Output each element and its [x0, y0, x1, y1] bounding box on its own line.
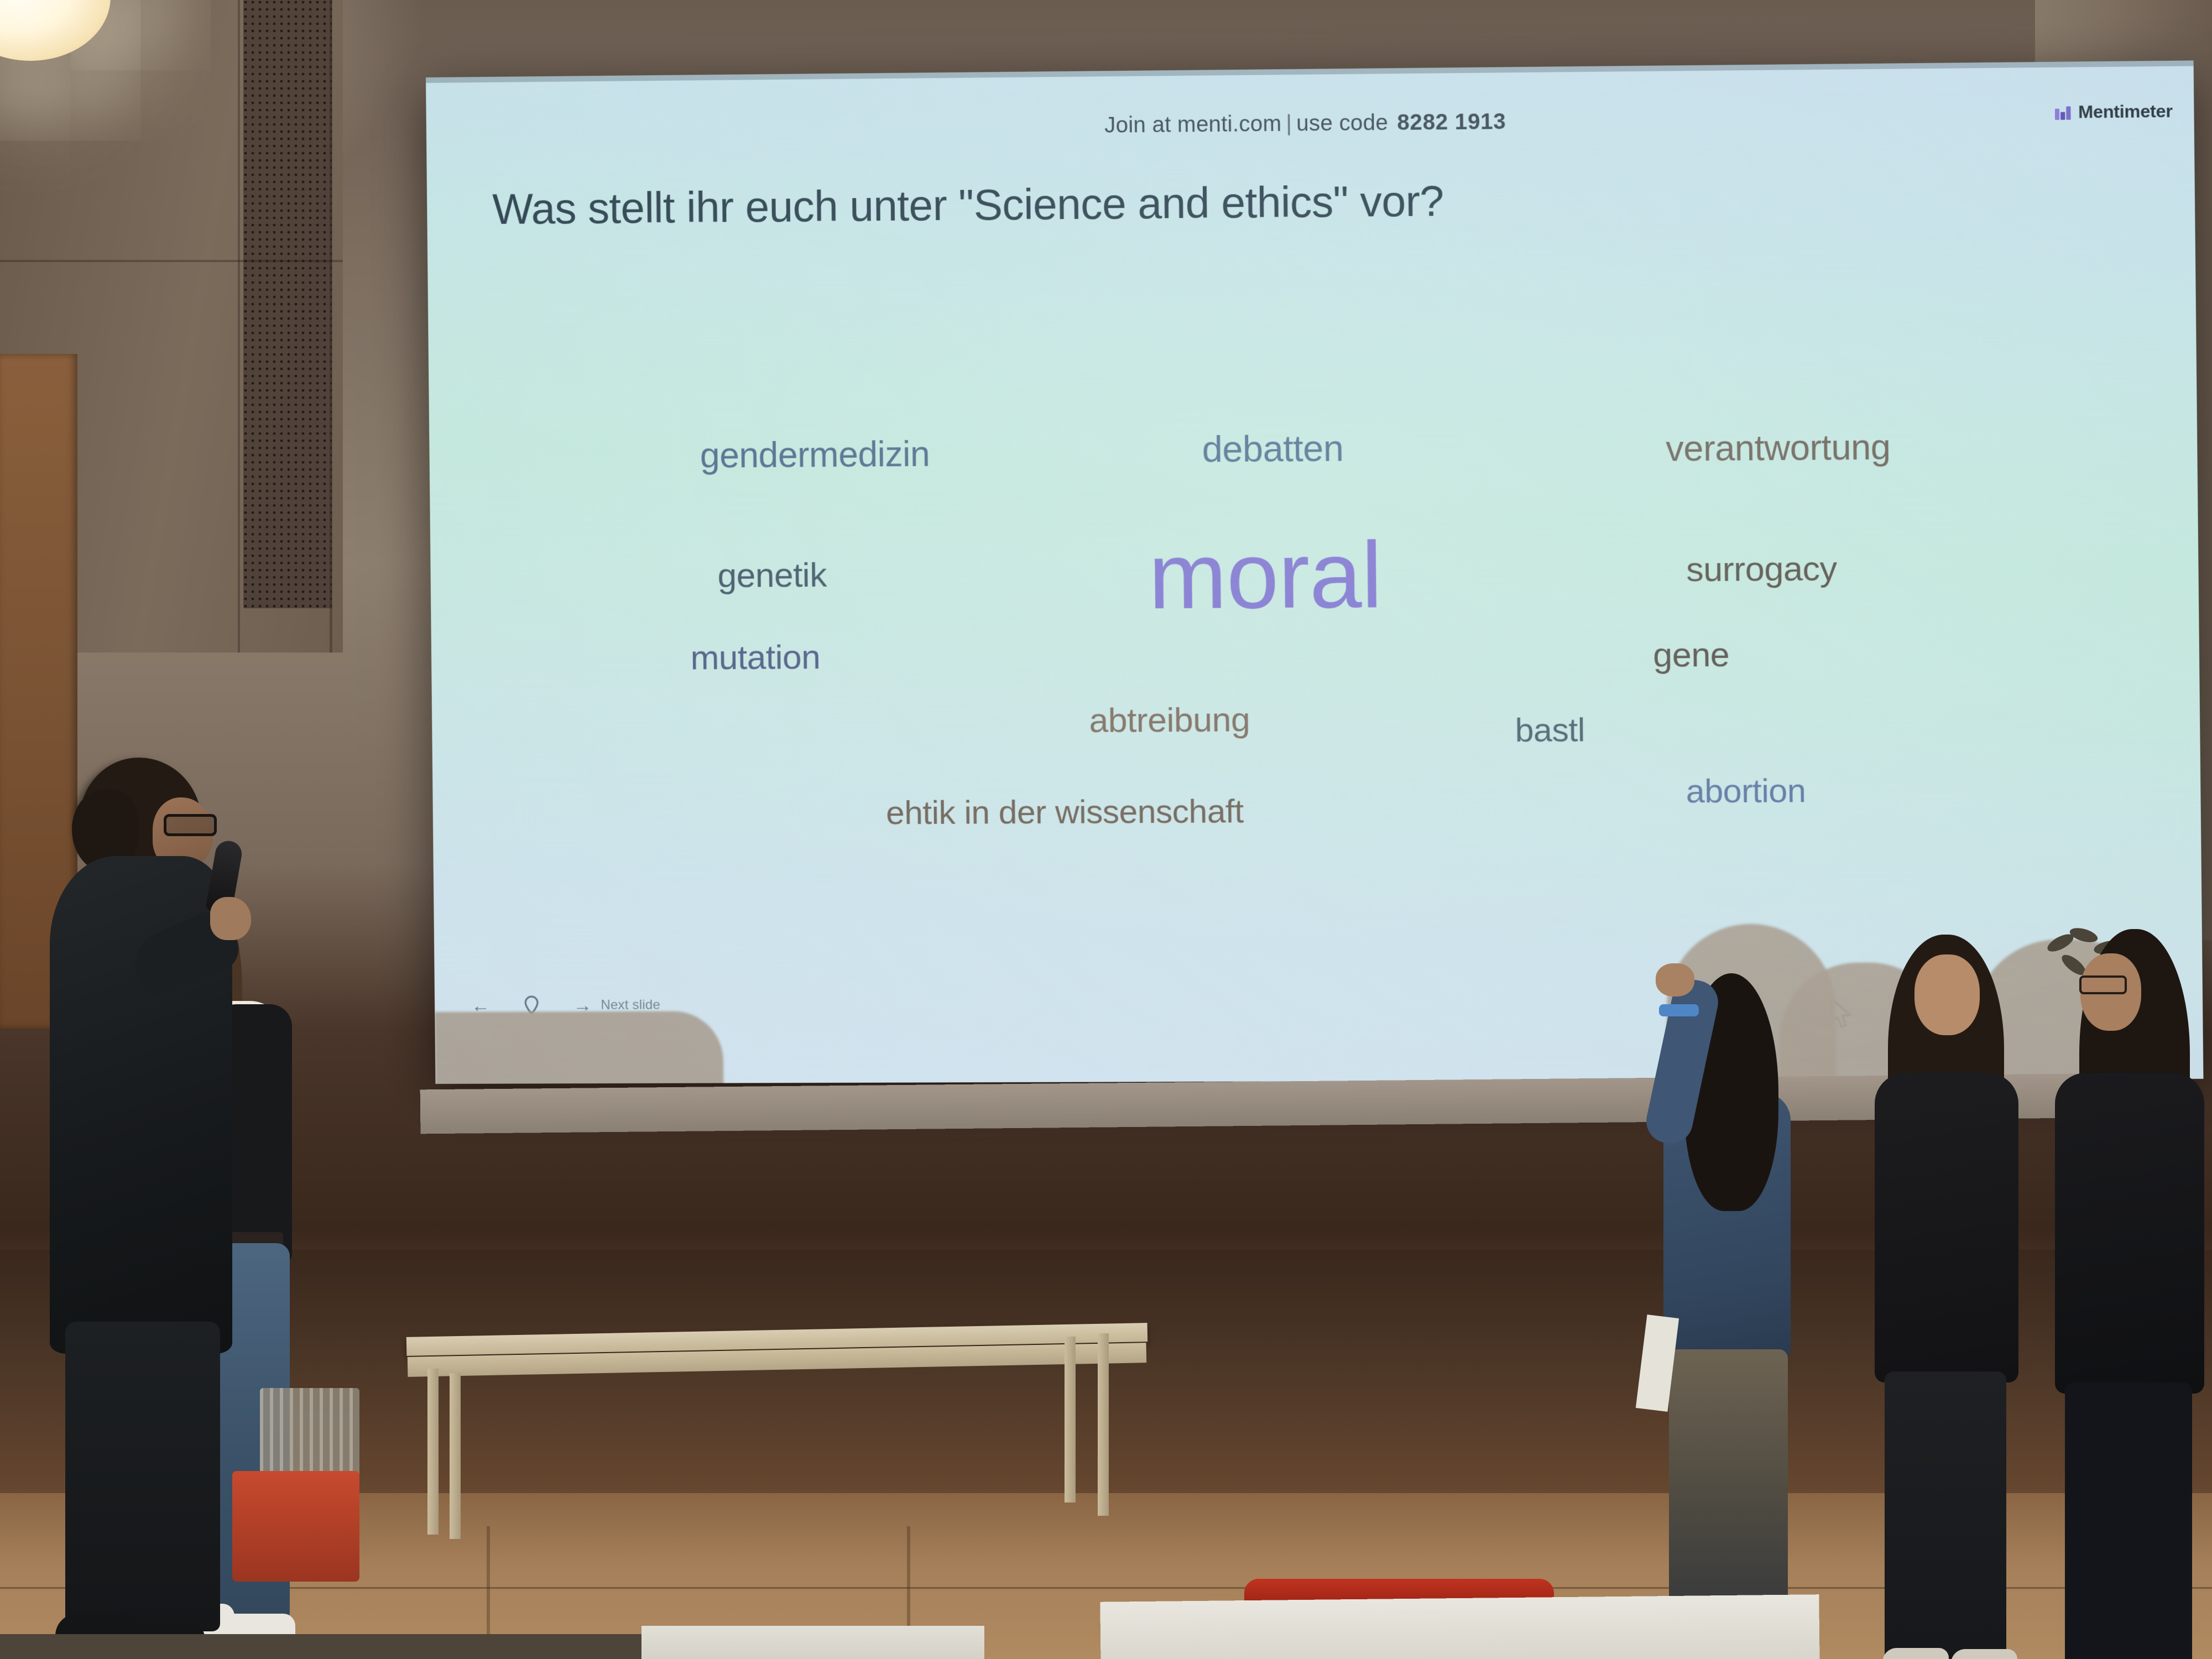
mentimeter-wordmark: Mentimeter [2078, 101, 2173, 123]
jacket [1875, 1073, 2018, 1383]
join-code: 8282 1913 [1397, 109, 1506, 135]
word-cloud: gendermedizindebattenverantwortunggeneti… [429, 374, 2202, 973]
jacket [2055, 1073, 2204, 1394]
wall-seam [330, 0, 332, 653]
shoe [1882, 1648, 1949, 1659]
word-cloud-word: ehtik in der wissenschaft [886, 795, 1244, 830]
red-box-foreground [232, 1471, 359, 1582]
face [1914, 954, 1980, 1035]
bench-leg [427, 1369, 439, 1535]
white-surface-foreground-left [641, 1626, 984, 1659]
wall-seam [0, 260, 343, 262]
word-cloud-word: genetik [717, 558, 827, 593]
hand [210, 897, 251, 940]
white-surface-foreground [1100, 1594, 1819, 1659]
join-prefix: Join at menti.com [1104, 112, 1281, 138]
bench-leg [1098, 1333, 1109, 1516]
word-cloud-word: mutation [690, 640, 820, 675]
trousers [2065, 1383, 2192, 1659]
edge-shadow [435, 1011, 723, 1084]
slide-question-title: Was stellt ihr euch unter "Science and e… [492, 171, 2105, 233]
wall-seam [238, 0, 240, 653]
join-separator: | [1281, 111, 1296, 136]
mentimeter-logo: Mentimeter [2054, 101, 2173, 123]
person-blue-top-arm-raised [1653, 973, 1819, 1659]
word-cloud-word: gene [1653, 638, 1730, 673]
lecture-hall-scene: Join at menti.com|use code8282 1913 Ment… [0, 0, 2212, 1659]
mentimeter-slide[interactable]: Join at menti.com|use code8282 1913 Ment… [426, 60, 2203, 1084]
screen-top-edge [426, 60, 2194, 83]
word-cloud-word: moral [1148, 528, 1383, 623]
wristband [1659, 1004, 1699, 1016]
acoustic-perforated-panel [243, 0, 332, 608]
trousers [65, 1322, 220, 1631]
person-dark-clothing-far-right [2046, 929, 2212, 1659]
mentimeter-bars-icon [2054, 104, 2072, 121]
trousers [1885, 1371, 2006, 1659]
glasses [164, 814, 217, 836]
wooden-bench [406, 1330, 1147, 1551]
projection-screen: Join at menti.com|use code8282 1913 Ment… [426, 60, 2203, 1084]
word-cloud-word: abtreibung [1089, 703, 1250, 738]
bench-leg [1065, 1337, 1076, 1503]
person-dark-clothing-center-right [1869, 935, 2035, 1659]
word-cloud-word: bastl [1515, 713, 1585, 747]
crate-foreground [260, 1388, 359, 1477]
shoe [1951, 1649, 2017, 1659]
use-code-label: use code [1296, 111, 1388, 136]
join-instruction: Join at menti.com|use code8282 1913 [426, 103, 2194, 144]
glasses [2079, 975, 2127, 994]
slide-header: Join at menti.com|use code8282 1913 Ment… [426, 103, 2194, 149]
bench-leg [450, 1373, 461, 1539]
word-cloud-word: abortion [1686, 774, 1806, 808]
word-cloud-word: verantwortung [1666, 429, 1891, 466]
word-cloud-word: debatten [1202, 430, 1343, 467]
word-cloud-word: surrogacy [1686, 551, 1837, 587]
word-cloud-word: gendermedizin [700, 436, 930, 473]
hand [1656, 963, 1694, 997]
